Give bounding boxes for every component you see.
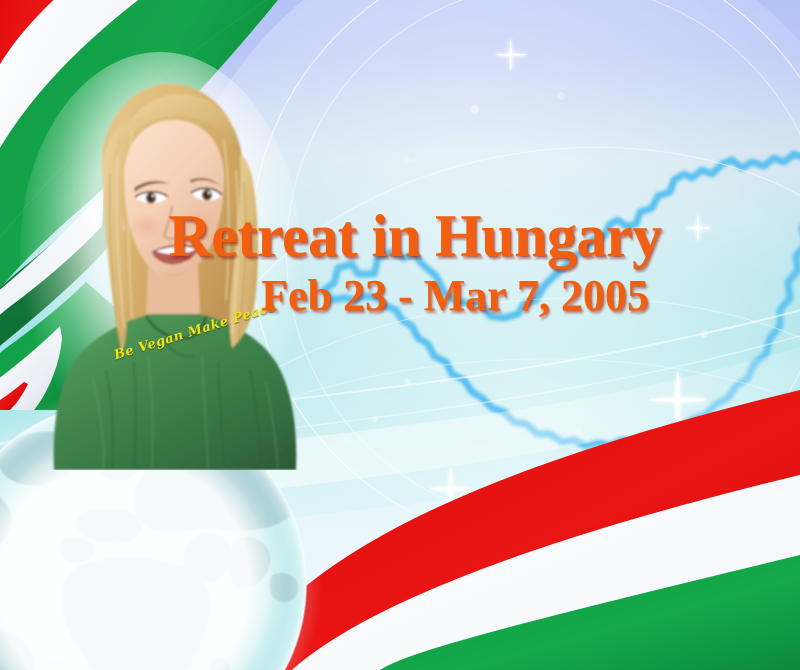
sphere-arc-5 xyxy=(46,330,800,670)
bokeh-dot xyxy=(404,156,411,163)
sphere-arc-4 xyxy=(98,258,800,670)
shirt-slogan: Be Vegan Make Peace xyxy=(112,314,231,363)
globe-icon xyxy=(0,398,310,670)
sparkle-icon xyxy=(650,372,706,428)
sparkle-icon xyxy=(578,462,612,496)
sparkle-icon xyxy=(496,40,526,70)
sparkle-icon xyxy=(316,560,356,600)
bokeh-dot xyxy=(372,416,378,422)
bokeh-dot xyxy=(470,105,479,114)
woman-portrait-icon xyxy=(14,70,304,470)
bokeh-dot xyxy=(404,378,411,385)
sphere-highlight-wash xyxy=(170,0,800,640)
poster-canvas: Be Vegan Make Peace Retreat in Hungary F… xyxy=(0,0,800,670)
hungary-flag-ribbon-icon xyxy=(0,0,350,410)
light-swoosh-group xyxy=(0,300,800,670)
bokeh-dot xyxy=(700,330,708,338)
portrait-glow xyxy=(20,52,300,452)
sparkle-icon xyxy=(686,216,710,240)
globe-glow xyxy=(0,372,336,670)
event-dates: Feb 23 - Mar 7, 2005 xyxy=(0,272,800,320)
bokeh-dot xyxy=(575,428,582,435)
sphere-arc-1 xyxy=(250,0,800,547)
bokeh-dot xyxy=(557,92,565,100)
bokeh-dot xyxy=(411,158,417,164)
sphere-highlight-wash-secondary xyxy=(220,120,800,670)
page-title: Retreat in Hungary xyxy=(0,204,800,268)
sphere-arc-2 xyxy=(286,0,800,524)
hungary-map-outline-icon xyxy=(318,78,800,498)
hungary-flag-band-icon xyxy=(240,350,800,670)
bokeh-dot xyxy=(344,437,350,443)
sparkle-icon xyxy=(430,468,472,510)
sphere-arc-3 xyxy=(149,95,800,670)
headline-block: Retreat in Hungary Feb 23 - Mar 7, 2005 xyxy=(0,204,800,320)
